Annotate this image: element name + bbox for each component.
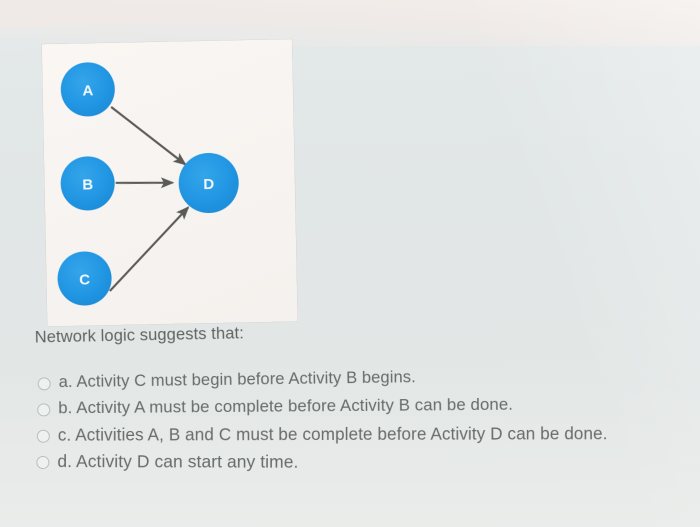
- node-b-label: B: [82, 176, 93, 193]
- edge-a-to-d: [111, 105, 185, 165]
- node-d-label: D: [203, 176, 214, 193]
- option-b-label: b. Activity A must be complete before Ac…: [58, 394, 513, 420]
- option-a-label: a. Activity C must begin before Activity…: [59, 366, 416, 393]
- network-diagram: A B C D: [42, 39, 298, 326]
- question-stem: Network logic suggests that:: [35, 324, 244, 347]
- photographed-screen: A B C D Network logic suggests that:: [0, 0, 700, 527]
- diagram-node-b: B: [60, 156, 115, 211]
- option-d[interactable]: d. Activity D can start any time.: [36, 450, 696, 480]
- network-diagram-card: A B C D: [42, 39, 298, 326]
- option-b[interactable]: b. Activity A must be complete before Ac…: [37, 392, 697, 425]
- diagram-node-c: C: [57, 251, 112, 306]
- answer-options-list: a. Activity C must begin before Activity…: [35, 360, 697, 485]
- edge-c-to-d: [108, 207, 190, 291]
- diagram-node-a: A: [60, 62, 115, 117]
- radio-button-a[interactable]: [38, 377, 51, 390]
- option-c-label: c. Activities A, B and C must be complet…: [58, 422, 608, 447]
- radio-button-b[interactable]: [37, 403, 50, 416]
- edge-b-to-d: [116, 182, 173, 184]
- option-d-label: d. Activity D can start any time.: [57, 450, 298, 474]
- diagram-node-d: D: [178, 152, 239, 213]
- option-c[interactable]: c. Activities A, B and C must be complet…: [37, 422, 697, 452]
- node-a-label: A: [82, 82, 93, 99]
- radio-button-c[interactable]: [37, 430, 50, 443]
- question-content: A B C D Network logic suggests that:: [0, 0, 700, 527]
- node-c-label: C: [79, 271, 90, 288]
- diagram-edges: [106, 105, 190, 291]
- radio-button-d[interactable]: [36, 456, 49, 469]
